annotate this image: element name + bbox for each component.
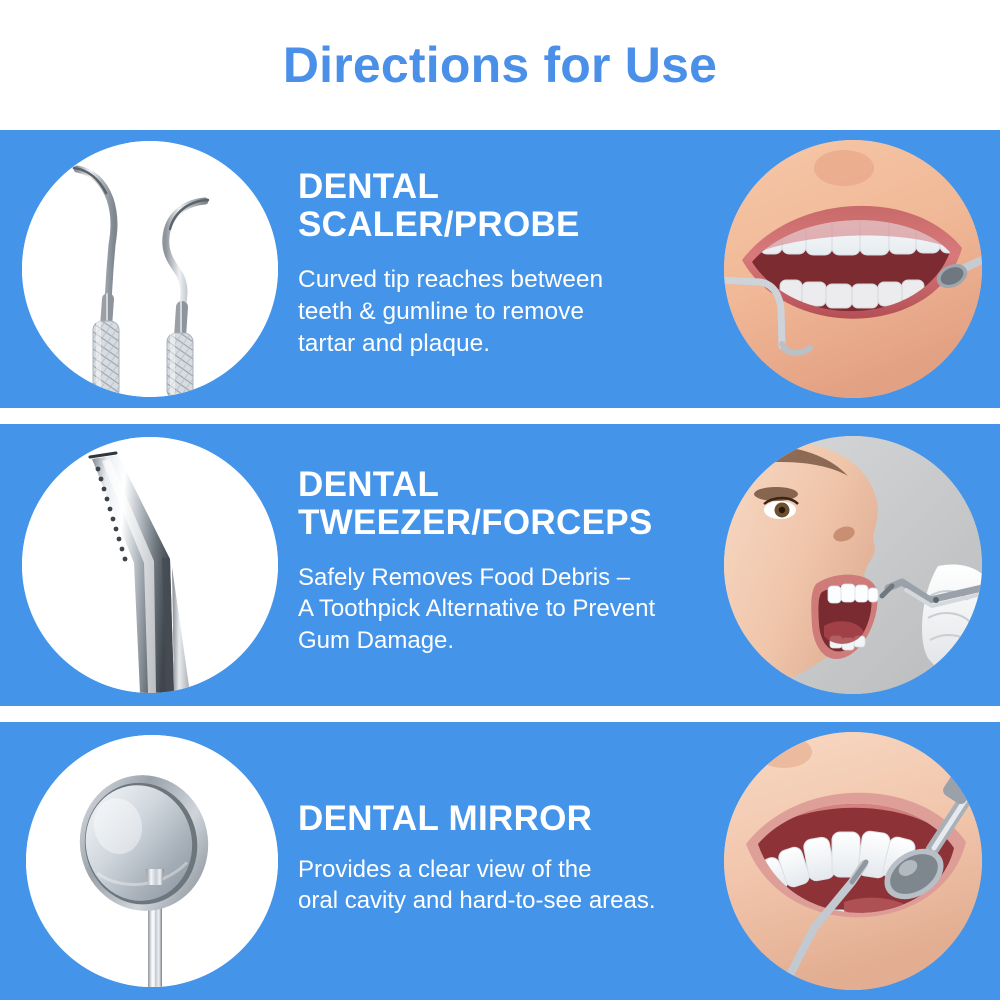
panel-dental-scaler-probe: DENTAL SCALER/PROBE Curved tip reaches b… — [0, 130, 1000, 408]
panel-text-block: DENTAL TWEEZER/FORCEPS Safely Removes Fo… — [298, 466, 743, 657]
smile-with-scaler-photo — [724, 140, 982, 398]
dental-tweezer-forceps-photo — [22, 437, 278, 693]
open-mouth-with-forceps-photo — [724, 436, 982, 694]
dental-scaler-probe-photo — [22, 141, 278, 397]
panel-description: Safely Removes Food Debris – A Toothpick… — [298, 562, 743, 657]
page-title: Directions for Use — [283, 40, 717, 90]
panel-heading: DENTAL TWEEZER/FORCEPS — [298, 466, 743, 542]
panel-heading: DENTAL SCALER/PROBE — [298, 168, 728, 244]
panel-description: Provides a clear view of the oral cavity… — [298, 854, 728, 917]
panel-text-block: DENTAL MIRROR Provides a clear view of t… — [298, 800, 728, 917]
panel-dental-tweezer-forceps: DENTAL TWEEZER/FORCEPS Safely Removes Fo… — [0, 424, 1000, 706]
mouth-with-mirror-photo — [724, 732, 982, 990]
panel-heading: DENTAL MIRROR — [298, 800, 728, 838]
panel-text-block: DENTAL SCALER/PROBE Curved tip reaches b… — [298, 168, 728, 361]
panel-description: Curved tip reaches between teeth & gumli… — [298, 264, 728, 361]
dental-mirror-photo — [26, 735, 278, 987]
title-bar: Directions for Use — [0, 0, 1000, 130]
panel-dental-mirror: DENTAL MIRROR Provides a clear view of t… — [0, 722, 1000, 1000]
directions-for-use-infographic: Directions for Use — [0, 0, 1000, 1000]
